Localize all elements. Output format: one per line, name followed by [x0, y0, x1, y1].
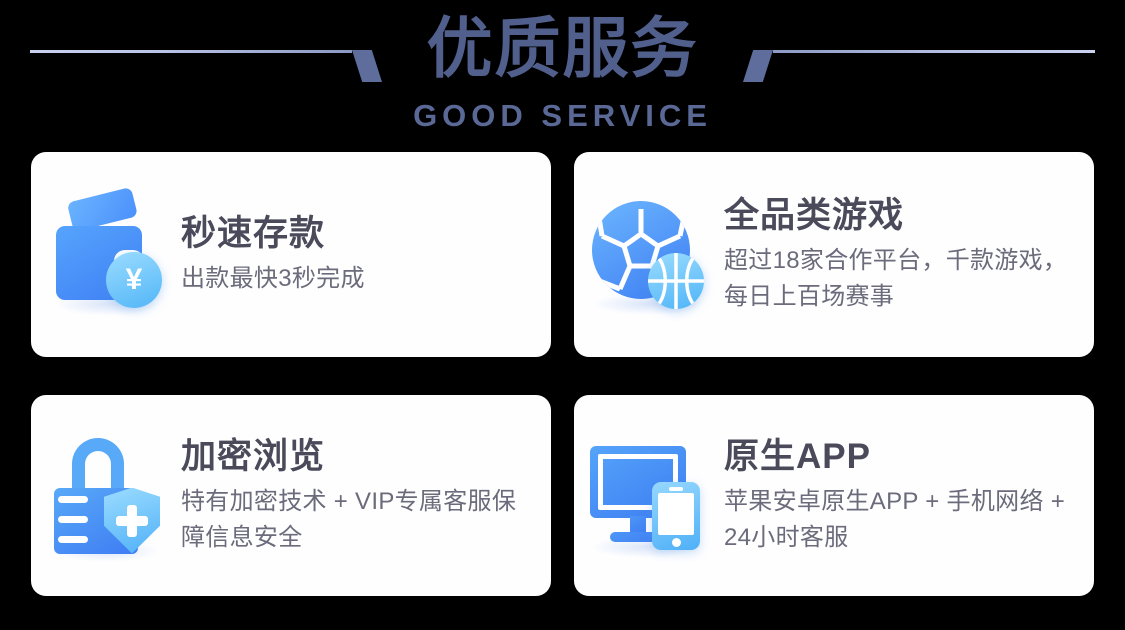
phone-home-button-icon: [672, 538, 681, 547]
basketball-lines: [648, 253, 704, 309]
plus-icon: [127, 505, 137, 537]
yen-coin-icon: ¥: [106, 252, 162, 308]
card-subtitle: 特有加密技术 + VIP专属客服保障信息安全: [181, 484, 537, 556]
card-text-block: 加密浏览 特有加密技术 + VIP专属客服保障信息安全: [181, 435, 551, 556]
banner-header: 优质服务 GOOD SERVICE: [0, 0, 1125, 140]
card-icon-slot: [574, 395, 724, 596]
basketball-icon: [648, 253, 704, 309]
card-icon-slot: [574, 152, 724, 357]
lock-dash-icon: [58, 536, 88, 543]
phone-screen-icon: [658, 493, 694, 535]
feature-card-grid: ¥ 秒速存款 出款最快3秒完成: [31, 152, 1094, 596]
card-title: 原生APP: [724, 435, 1080, 479]
feature-card-native-app[interactable]: 原生APP 苹果安卓原生APP + 手机网络 + 24小时客服: [574, 395, 1094, 596]
monitor-phone-icon: [590, 442, 708, 550]
promo-banner: 优质服务 GOOD SERVICE ¥ 秒速存款 出款最快3秒完成: [0, 0, 1125, 630]
card-title: 秒速存款: [181, 212, 537, 256]
feature-card-encryption[interactable]: 加密浏览 特有加密技术 + VIP专属客服保障信息安全: [31, 395, 551, 596]
lock-dash-icon: [58, 496, 88, 503]
card-text-block: 秒速存款 出款最快3秒完成: [181, 212, 551, 297]
lock-shackle-icon: [72, 438, 124, 494]
card-subtitle: 出款最快3秒完成: [181, 261, 537, 297]
card-icon-slot: ¥: [31, 152, 181, 357]
wallet-flap-icon: [67, 186, 138, 231]
feature-card-games[interactable]: 全品类游戏 超过18家合作平台，千款游戏，每日上百场赛事: [574, 152, 1094, 357]
wallet-yen-icon: ¥: [50, 200, 162, 310]
feature-card-deposit[interactable]: ¥ 秒速存款 出款最快3秒完成: [31, 152, 551, 357]
card-title: 全品类游戏: [724, 194, 1080, 238]
soccer-basketball-icon: [590, 199, 708, 311]
card-title: 加密浏览: [181, 435, 537, 479]
monitor-stand-icon: [630, 516, 646, 534]
card-text-block: 全品类游戏 超过18家合作平台，千款游戏，每日上百场赛事: [724, 194, 1094, 315]
card-subtitle: 超过18家合作平台，千款游戏，每日上百场赛事: [724, 243, 1080, 315]
page-title: 优质服务: [0, 8, 1125, 88]
card-text-block: 原生APP 苹果安卓原生APP + 手机网络 + 24小时客服: [724, 435, 1094, 556]
page-subtitle: GOOD SERVICE: [0, 99, 1125, 133]
card-subtitle: 苹果安卓原生APP + 手机网络 + 24小时客服: [724, 484, 1080, 556]
lock-dash-icon: [58, 516, 88, 523]
card-icon-slot: [31, 395, 181, 596]
lock-shield-icon: [50, 438, 162, 554]
phone-speaker-icon: [669, 487, 683, 491]
yen-symbol: ¥: [126, 265, 143, 295]
